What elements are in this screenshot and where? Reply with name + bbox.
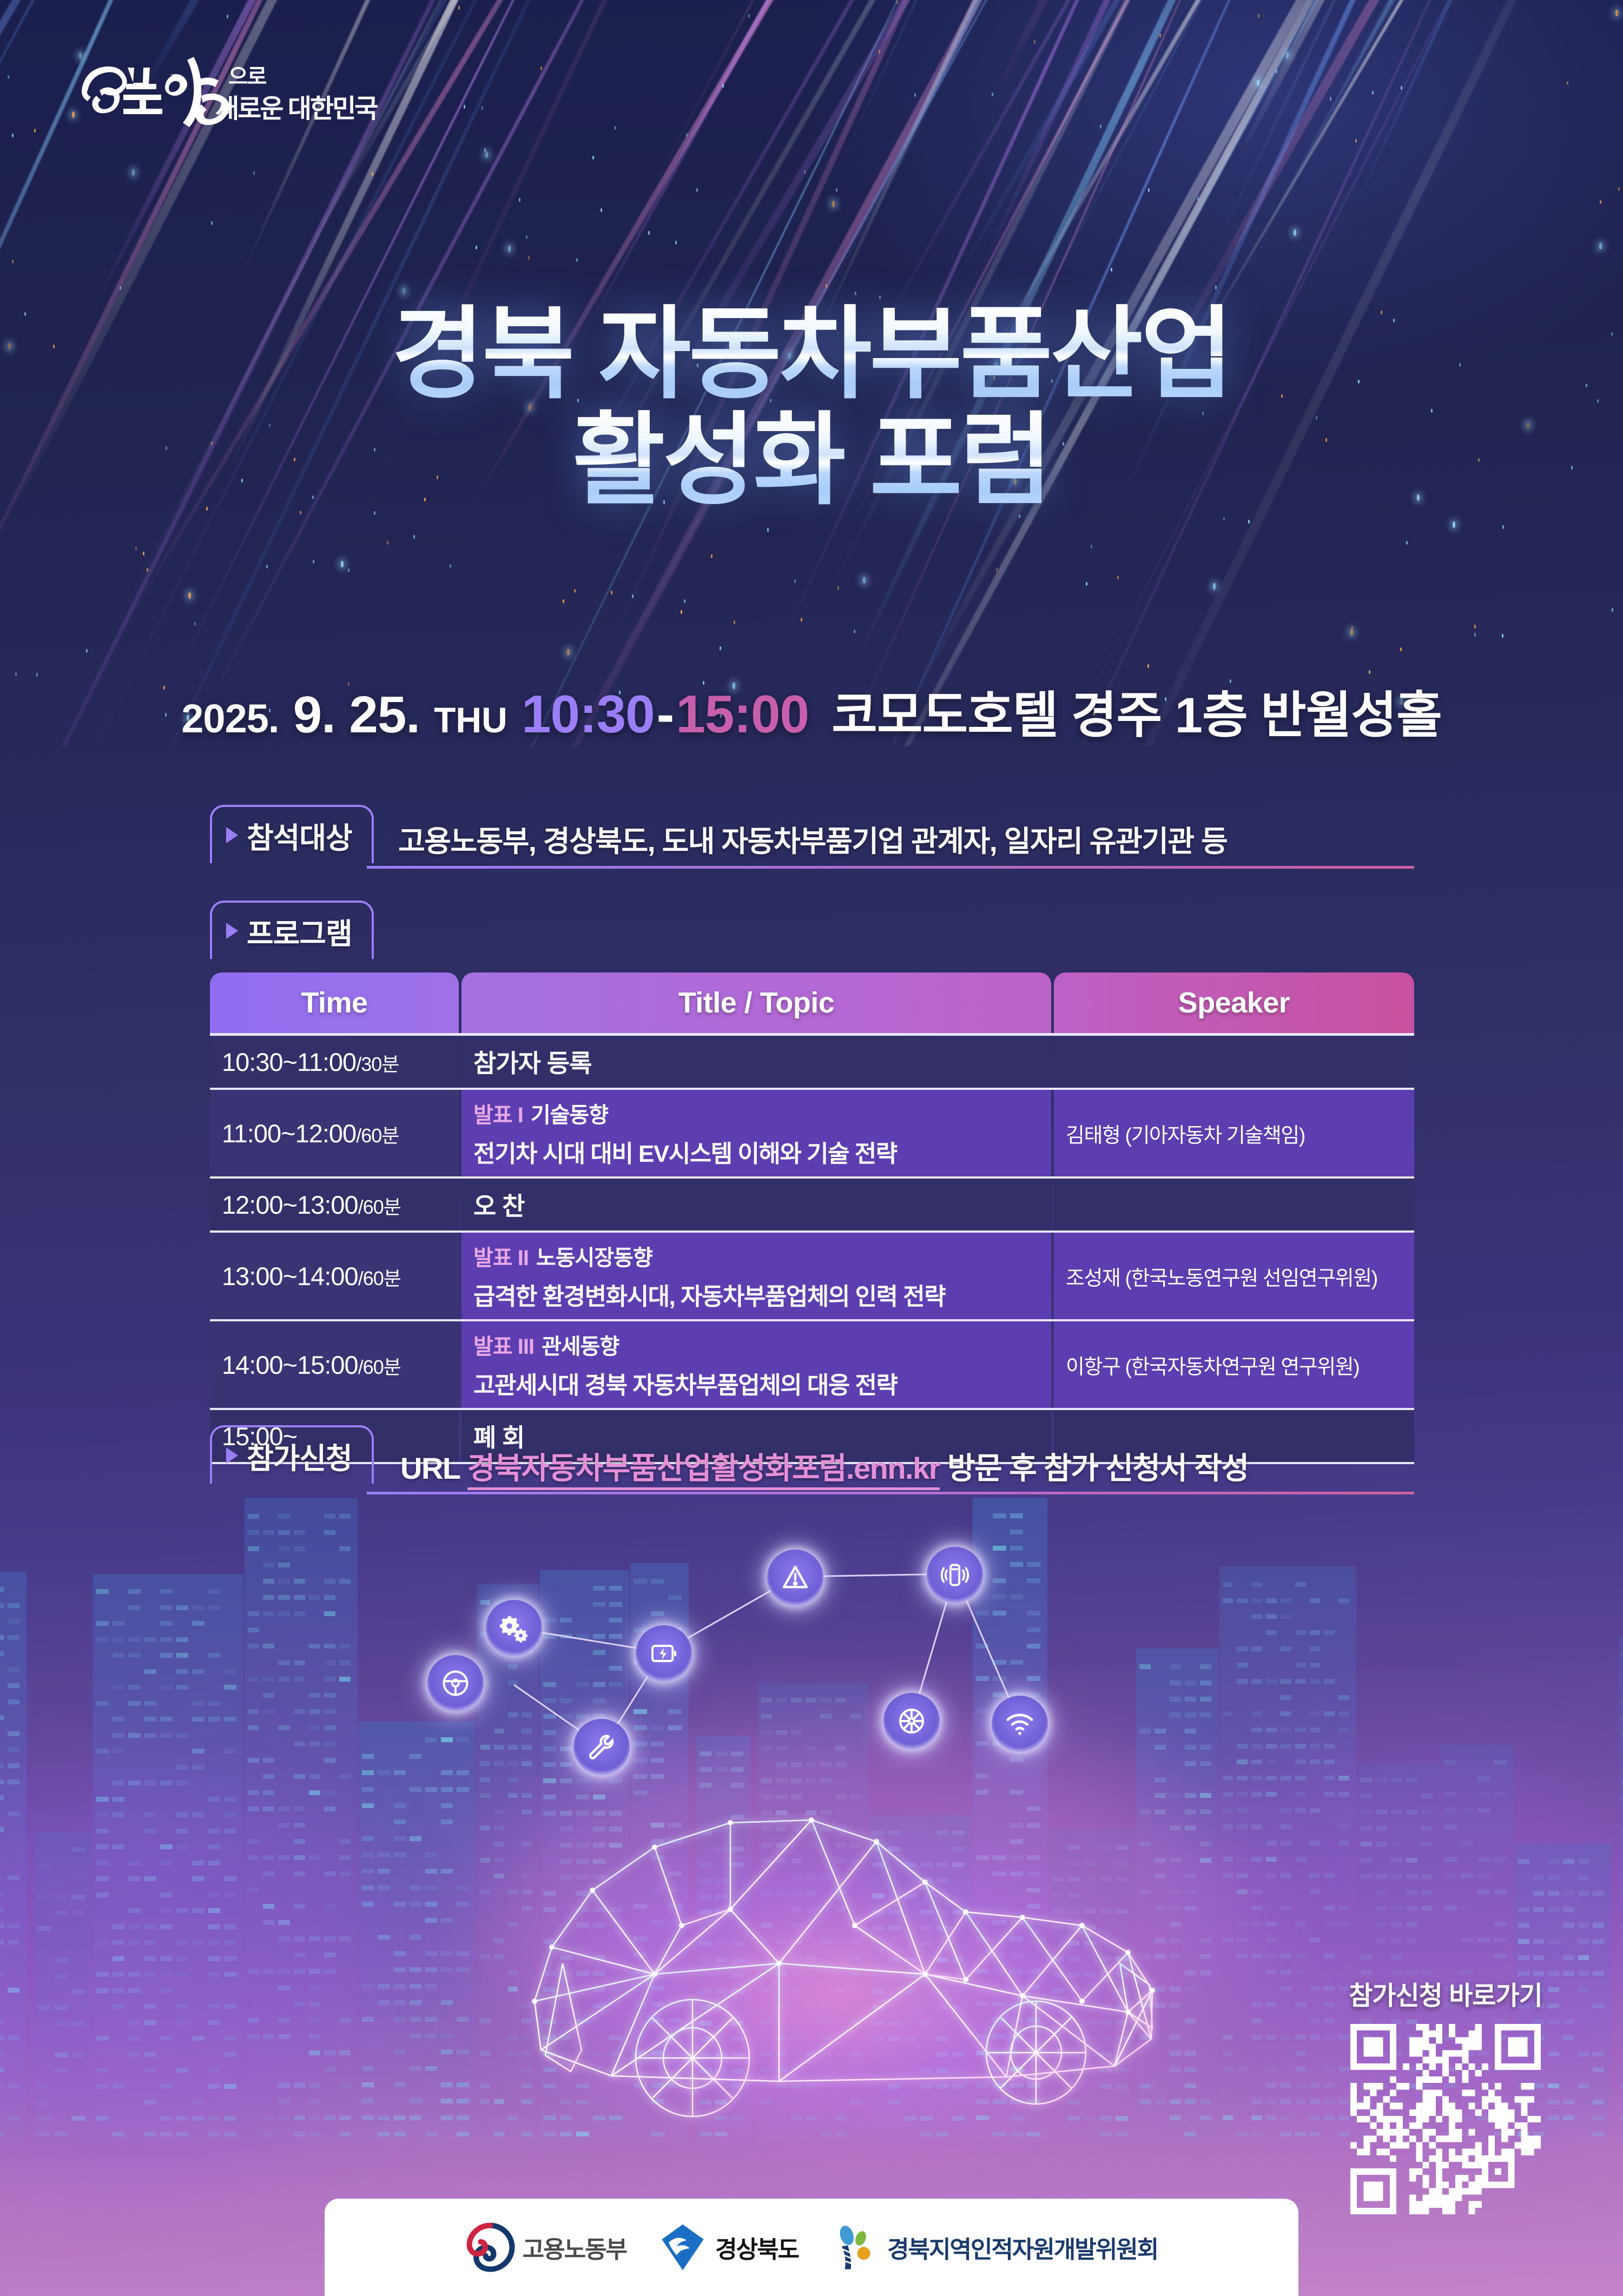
window: [1200, 2099, 1211, 2104]
window: [362, 2066, 374, 2071]
sparkle-dot: [1618, 187, 1620, 191]
window: [457, 2132, 469, 2136]
sparkle-dot: [341, 561, 344, 567]
sparkle-dot: [1197, 197, 1199, 201]
window: [8, 1603, 19, 1608]
column-header-speaker: Speaker: [1054, 972, 1414, 1033]
window: [309, 1774, 320, 1779]
session-number: 발표 I: [473, 1103, 523, 1127]
window: [1223, 1824, 1233, 1829]
window: [1338, 1695, 1349, 1700]
column-header-title-topic: Title / Topic: [461, 972, 1051, 1033]
sparkle-dot: [722, 84, 724, 88]
window: [1251, 2099, 1262, 2104]
window: [394, 1770, 406, 1775]
window: [1295, 1744, 1306, 1749]
window: [128, 1589, 141, 1594]
sparkle-dot: [1474, 633, 1476, 637]
sparkle-dot: [1276, 70, 1277, 74]
speaker-name: 조성재 (한국노동연구원 선임연구위원): [1066, 1261, 1402, 1291]
window: [441, 1951, 453, 1956]
window: [176, 1669, 189, 1674]
window: [224, 1749, 236, 1754]
window: [128, 1733, 141, 1738]
window: [0, 1603, 4, 1608]
title-line-1: 경북 자동차부품산업: [0, 303, 1623, 407]
window: [1251, 2132, 1262, 2136]
qr-registration-block[interactable]: 참가신청 바로가기: [1332, 1974, 1559, 2214]
window: [192, 1717, 204, 1722]
table-row: 12:00~13:00/60분오 찬: [210, 1179, 1414, 1230]
window: [113, 1637, 125, 1642]
window: [1310, 1711, 1321, 1716]
window: [176, 1765, 189, 1770]
sparkle-dot: [720, 646, 721, 650]
window: [1237, 2132, 1248, 2136]
audience-section: 참석대상 고용노동부, 경상북도, 도내 자동차부품기업 관계자, 일자리 유관…: [210, 805, 1414, 869]
window: [294, 1530, 305, 1535]
session-tagline: 발표 II노동시장동향: [473, 1240, 1039, 1272]
sparkle-dot: [611, 591, 612, 594]
window: [457, 2082, 469, 2087]
sparkle-dot: [854, 630, 855, 633]
car-sensor-icon: [927, 1547, 983, 1603]
window: [1266, 1728, 1277, 1732]
sponsor-footer: 고용노동부 경상북도 경북지역인적자원개발위원회: [325, 2199, 1298, 2296]
steering-wheel-icon: [427, 1655, 484, 1711]
window: [394, 1819, 406, 1824]
registration-suffix: 방문 후 참가 신청서 작성: [947, 1451, 1248, 1485]
window: [339, 1774, 351, 1779]
sparkle-dot: [348, 568, 349, 572]
window: [425, 1967, 437, 1972]
window: [1324, 1759, 1335, 1764]
sparkle-dot: [767, 528, 769, 532]
sparkle-dot: [684, 599, 685, 603]
audience-text: 고용노동부, 경상북도, 도내 자동차부품기업 관계자, 일자리 유관기관 등: [398, 817, 1227, 860]
sparkle-dot: [143, 552, 144, 555]
sparkle-dot: [313, 560, 314, 564]
event-year: 2025.: [181, 696, 279, 741]
window: [1281, 2115, 1291, 2120]
window: [1338, 1711, 1349, 1716]
sparkle-dot: [1599, 243, 1602, 249]
window: [128, 1637, 141, 1642]
window: [324, 2115, 335, 2120]
window: [176, 1733, 189, 1738]
ev-battery-charge-icon: [636, 1625, 692, 1682]
window: [394, 2000, 406, 2005]
window: [113, 1653, 125, 1658]
window: [309, 1725, 320, 1730]
window: [1200, 1793, 1211, 1798]
title-line-2: 활성화 포럼: [0, 409, 1623, 513]
window: [1338, 1728, 1349, 1732]
window: [248, 1725, 259, 1730]
window: [248, 1709, 259, 1714]
window: [425, 2017, 437, 2022]
window: [113, 1733, 125, 1738]
sparkle-dot: [1091, 545, 1092, 548]
time-duration: /60분: [356, 1124, 399, 1147]
window: [425, 1852, 437, 1857]
window: [8, 1619, 19, 1624]
window: [1266, 1614, 1277, 1619]
session-number: 발표 III: [473, 1335, 534, 1359]
sparkle-dot: [576, 258, 578, 262]
window: [1237, 1679, 1248, 1684]
window: [1295, 1759, 1306, 1764]
window: [1237, 1792, 1248, 1797]
window: [1295, 1679, 1306, 1684]
event-datetime-venue: 2025. 9. 25. THU 10:30-15:00 코모도호텔 경주 1층…: [0, 675, 1623, 747]
window: [425, 1737, 437, 1742]
audience-badge: 참석대상: [210, 805, 374, 863]
sparkle-dot: [450, 564, 451, 568]
window: [410, 1935, 421, 1940]
window: [1324, 1679, 1335, 1684]
program-section-header: 프로그램: [210, 901, 1414, 964]
window: [362, 1836, 374, 1841]
window: [324, 1660, 335, 1665]
session-topic: 전기차 시대 대비 EV시스템 이해와 기술 전략: [473, 1134, 1039, 1169]
warning-alert-icon: [767, 1550, 823, 1606]
window: [457, 1951, 469, 1956]
window: [362, 2115, 374, 2120]
window: [263, 1644, 274, 1649]
window: [263, 1530, 274, 1535]
window: [378, 1935, 390, 1940]
sparkle-dot: [601, 208, 602, 212]
window: [457, 1885, 469, 1890]
wheel-rim-icon: [883, 1693, 940, 1749]
window: [324, 1693, 335, 1698]
time-duration: /60분: [358, 1267, 401, 1289]
window: [394, 2132, 406, 2136]
window: [1223, 1598, 1233, 1603]
window: [425, 1951, 437, 1956]
cell-speaker: 조성재 (한국노동연구원 선임연구위원): [1054, 1233, 1414, 1319]
window: [113, 1749, 125, 1754]
sparkle-dot: [1086, 582, 1087, 586]
triangle-marker-icon: [226, 827, 238, 843]
sparkle-dot: [632, 594, 634, 598]
window: [309, 1644, 320, 1649]
sparkle-dot: [855, 292, 856, 295]
window: [192, 1669, 204, 1674]
window: [248, 1611, 259, 1616]
sparkle-dot: [1453, 521, 1455, 528]
session-topic: 고관세시대 경북 자동차부품업체의 대응 전략: [473, 1366, 1039, 1400]
window: [1266, 1630, 1277, 1635]
window: [339, 1514, 351, 1519]
window: [378, 2115, 390, 2120]
sparkle-dot: [1111, 268, 1112, 272]
time-value: 14:00~15:00/60분: [222, 1350, 401, 1380]
event-month-day: 9. 25.: [293, 686, 420, 744]
sparkle-dot: [711, 554, 712, 558]
window: [378, 2000, 390, 2005]
window: [1310, 1630, 1321, 1635]
window: [278, 1677, 289, 1682]
cell-title-topic: 발표 III관세동향고관세시대 경북 자동차부품업체의 대응 전략: [461, 1321, 1051, 1408]
window: [394, 1902, 406, 1907]
cell-title-topic: 오 찬: [461, 1179, 1051, 1230]
window: [410, 2099, 421, 2103]
sparkle-dot: [484, 148, 486, 152]
window: [263, 1709, 274, 1714]
window: [192, 1749, 204, 1754]
window: [8, 1731, 19, 1736]
window: [278, 1514, 289, 1519]
window: [1295, 2132, 1306, 2136]
window: [248, 1546, 259, 1551]
window: [324, 1725, 335, 1730]
window: [0, 1779, 4, 1784]
window: [425, 1885, 437, 1890]
window: [1200, 2115, 1211, 2120]
window: [160, 1653, 173, 1658]
window: [324, 1758, 335, 1763]
cell-title-topic: 발표 II노동시장동향급격한 환경변화시대, 자동차부품업체의 인력 전략: [461, 1233, 1051, 1319]
window: [362, 2099, 374, 2103]
window: [128, 1701, 141, 1706]
sparkle-dot: [1612, 608, 1613, 612]
window: [208, 1701, 221, 1706]
registration-url[interactable]: 경북자동차부품산업활성화포럼.enn.kr: [467, 1451, 940, 1490]
window: [378, 2132, 390, 2136]
window: [339, 1546, 351, 1551]
cell-time: 10:30~11:00/30분: [210, 1036, 459, 1088]
window: [8, 1779, 19, 1784]
session-topic: 참가자 등록: [473, 1044, 1039, 1080]
window: [0, 1795, 4, 1800]
window: [1223, 1711, 1233, 1716]
window: [96, 1749, 109, 1754]
window: [144, 1733, 157, 1738]
window: [441, 1967, 453, 1972]
window: [394, 2115, 406, 2120]
sparkle-dot: [1615, 10, 1618, 16]
window: [425, 1984, 437, 1989]
window: [1563, 2115, 1574, 2120]
window: [1237, 1744, 1248, 1749]
window: [248, 1644, 259, 1649]
program-badge-label: 프로그램: [247, 910, 352, 952]
sparkle-dot: [403, 288, 405, 294]
sparkle-dot: [476, 246, 477, 249]
sparkle-dot: [574, 589, 576, 593]
window: [192, 1765, 204, 1770]
event-day-of-week: THU: [434, 700, 507, 740]
hrd-council-icon: [830, 2222, 880, 2272]
window: [1251, 1598, 1262, 1603]
window: [309, 2132, 320, 2136]
window: [394, 1836, 406, 1841]
window: [324, 1611, 335, 1616]
window: [457, 1902, 469, 1907]
window: [457, 2115, 469, 2120]
window: [339, 1579, 351, 1584]
gyeongsangbukdo-icon: [658, 2222, 708, 2272]
time-duration: /60분: [358, 1356, 401, 1378]
window: [144, 1717, 157, 1722]
column-header-time: Time: [210, 972, 459, 1033]
window: [410, 2033, 421, 2038]
table-header-row: Time Title / Topic Speaker: [210, 972, 1414, 1033]
window: [294, 1660, 305, 1665]
sparkle-dot: [12, 260, 14, 263]
window: [0, 1635, 4, 1640]
triangle-marker-icon: [226, 923, 238, 939]
sparkle-dot: [1330, 97, 1331, 101]
event-end-time: 15:00: [676, 684, 809, 744]
light-streak: [237, 0, 524, 281]
sparkle-dot: [8, 75, 9, 79]
window: [1266, 2099, 1277, 2104]
sparkle-dot: [1502, 634, 1503, 638]
registration-badge: 참가신청: [210, 1425, 374, 1484]
sparkle-dot: [188, 592, 191, 599]
sparkle-dot: [1350, 629, 1353, 636]
window: [294, 1579, 305, 1584]
window: [362, 1852, 374, 1857]
sparkle-dot: [519, 198, 520, 202]
window: [410, 1885, 421, 1890]
sparkle-dot: [526, 235, 527, 239]
network-links: [449, 1493, 1206, 1774]
cell-speaker: 김태형 (기아자동차 기술책임): [1054, 1090, 1414, 1176]
logo-moel-label: 고용노동부: [523, 2230, 626, 2265]
connected-car-icon-network: [449, 1493, 1206, 1774]
window: [263, 1611, 274, 1616]
cell-time: 12:00~13:00/60분: [210, 1179, 459, 1230]
window: [96, 1589, 109, 1594]
session-category: 기술동향: [531, 1103, 608, 1127]
cell-time: 13:00~14:00/60분: [210, 1233, 459, 1319]
registration-badge-label: 참가신청: [247, 1434, 352, 1477]
sparkle-dot: [896, 0, 898, 4]
window: [410, 1967, 421, 1972]
speaker-name: 김태형 (기아자동차 기술책임): [1066, 1119, 1402, 1148]
session-category: 노동시장동향: [536, 1246, 652, 1270]
poster-title: 경북 자동차부품산업 활성화 포럼: [0, 303, 1623, 512]
qr-code[interactable]: [1350, 2024, 1541, 2214]
window: [1338, 1598, 1349, 1603]
window: [1310, 1646, 1321, 1651]
window: [410, 1754, 421, 1759]
window: [394, 1803, 406, 1808]
window: [441, 2082, 453, 2087]
window: [1251, 2115, 1262, 2120]
window: [263, 1807, 274, 1811]
window: [339, 1677, 351, 1682]
window: [144, 1701, 157, 1706]
window: [1266, 2115, 1277, 2120]
table-row: 10:30~11:00/30분참가자 등록: [210, 1036, 1414, 1088]
window: [324, 1530, 335, 1535]
time-value: 13:00~14:00/60분: [222, 1261, 401, 1291]
sparkle-dot: [72, 111, 75, 118]
time-dash: -: [657, 684, 674, 744]
sparkle-dot: [1474, 625, 1476, 628]
window: [309, 1790, 320, 1795]
sparkle-dot: [1567, 81, 1568, 85]
window: [1310, 1728, 1321, 1732]
window: [1237, 1808, 1248, 1813]
session-topic: 급격한 환경변화시대, 자동차부품업체의 인력 전략: [473, 1277, 1039, 1312]
window: [8, 1747, 19, 1752]
window: [339, 1660, 351, 1665]
window: [339, 1839, 351, 1844]
window: [410, 1836, 421, 1841]
window: [263, 1693, 274, 1698]
window: [441, 2033, 453, 2038]
window: [160, 1589, 173, 1594]
window: [1251, 1679, 1262, 1684]
window: [248, 1677, 259, 1682]
sparkle-dot: [1148, 188, 1150, 192]
window: [1251, 1776, 1262, 1781]
window: [160, 1733, 173, 1738]
sparkle-dot: [1372, 91, 1374, 95]
program-badge: 프로그램: [210, 901, 374, 959]
window: [339, 1855, 351, 1860]
window: [208, 1605, 221, 1610]
window: [278, 1807, 289, 1811]
window: [96, 1637, 109, 1642]
window: [192, 1701, 204, 1706]
window: [113, 1717, 125, 1722]
table-row: 13:00~14:00/60분발표 II노동시장동향급격한 환경변화시대, 자동…: [210, 1233, 1414, 1319]
cell-title-topic: 발표 I기술동향전기차 시대 대비 EV시스템 이해와 기술 전략: [461, 1090, 1051, 1176]
window: [294, 1595, 305, 1600]
window: [263, 1563, 274, 1567]
window: [362, 1902, 374, 1907]
window: [248, 1627, 259, 1632]
window: [410, 1984, 421, 1989]
window: [1593, 2100, 1604, 2105]
cell-speaker: 이항구 (한국자동차연구원 연구위원): [1054, 1321, 1414, 1408]
window: [1310, 1663, 1321, 1668]
window: [457, 2017, 469, 2022]
window: [176, 1685, 189, 1690]
sparkle-dot: [1355, 139, 1357, 143]
window: [192, 1605, 204, 1610]
window: [1310, 2132, 1321, 2136]
window: [160, 1637, 173, 1642]
window: [394, 2049, 406, 2054]
window: [1266, 1598, 1277, 1603]
sparkle-dot: [86, 649, 88, 653]
window: [128, 1653, 141, 1658]
window: [294, 1742, 305, 1746]
window: [176, 1653, 189, 1658]
window: [1251, 1614, 1262, 1619]
window: [425, 2066, 437, 2071]
korea-gov-taegeuk-icon: [465, 2222, 515, 2272]
window: [425, 1902, 437, 1907]
window: [324, 1514, 335, 1519]
window: [1281, 1614, 1291, 1619]
sparkle-dot: [508, 246, 511, 252]
sparkle-dot: [387, 541, 388, 545]
gears-icon: [486, 1600, 542, 1656]
window: [410, 2017, 421, 2022]
sparkle-dot: [567, 649, 570, 656]
sparkle-dot: [826, 284, 827, 288]
sparkle-dot: [734, 620, 735, 624]
